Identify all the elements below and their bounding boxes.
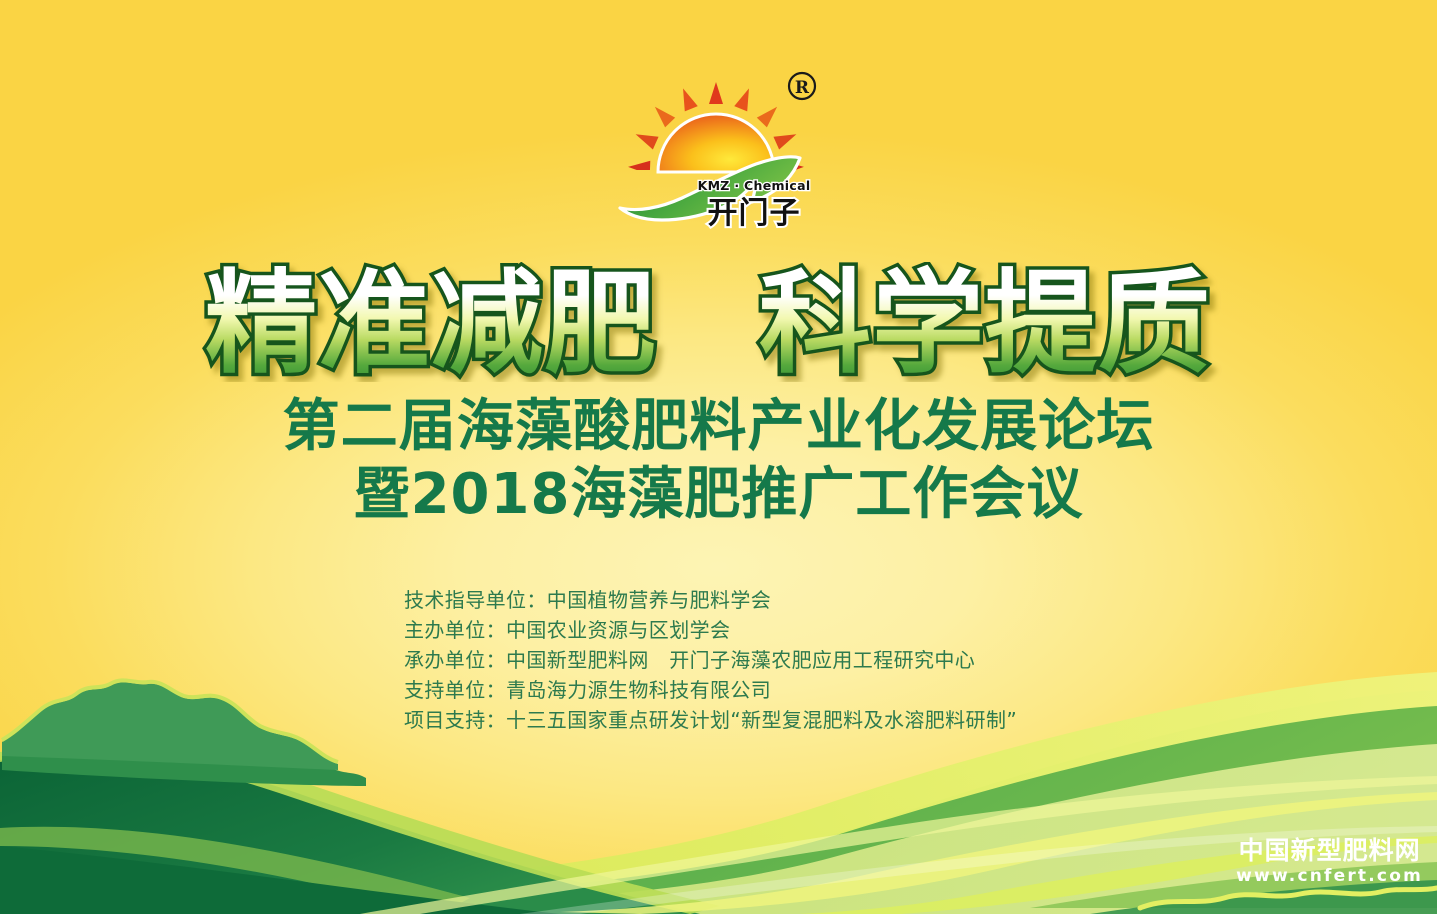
mountain-silhouette <box>2 680 366 786</box>
watermark-site-name: 中国新型肥料网 <box>1236 837 1423 865</box>
registered-trademark-icon: R <box>789 73 815 99</box>
headline-left: 精准减肥 <box>205 262 657 382</box>
watermark-url: www.cnfert.com <box>1236 866 1423 886</box>
organizer-line-organizer: 承办单位：中国新型肥料网 开门子海藻农肥应用工程研究中心 <box>404 645 1164 675</box>
brand-logo: R KMZ · Chemical 开门子 <box>604 62 834 242</box>
headline-right: 科学提质 <box>759 262 1211 382</box>
subtitle-block: 第二届海藻酸肥料产业化发展论坛 暨2018海藻肥推广工作会议 <box>0 398 1437 524</box>
headline: 精准减肥 科学提质 <box>0 262 1437 397</box>
organizer-line-host: 主办单位：中国农业资源与区划学会 <box>404 615 1164 645</box>
subtitle-line-1: 第二届海藻酸肥料产业化发展论坛 <box>0 398 1437 456</box>
logo-cn-text: 开门子 <box>707 196 800 231</box>
logo-latin-text: KMZ · Chemical <box>697 178 810 193</box>
organizer-line-supporter: 支持单位：青岛海力源生物科技有限公司 <box>404 675 1164 705</box>
subtitle-line-2: 暨2018海藻肥推广工作会议 <box>0 466 1437 524</box>
organizer-line-technical-guidance: 技术指导单位：中国植物营养与肥料学会 <box>404 585 1164 615</box>
organizer-info-block: 技术指导单位：中国植物营养与肥料学会 主办单位：中国农业资源与区划学会 承办单位… <box>404 585 1164 735</box>
organizer-line-project-support: 项目支持：十三五国家重点研发计划“新型复混肥料及水溶肥料研制” <box>404 705 1164 735</box>
conference-banner: R KMZ · Chemical 开门子 <box>0 0 1437 914</box>
svg-text:R: R <box>794 78 809 98</box>
site-watermark: 中国新型肥料网 www.cnfert.com <box>1236 837 1423 887</box>
